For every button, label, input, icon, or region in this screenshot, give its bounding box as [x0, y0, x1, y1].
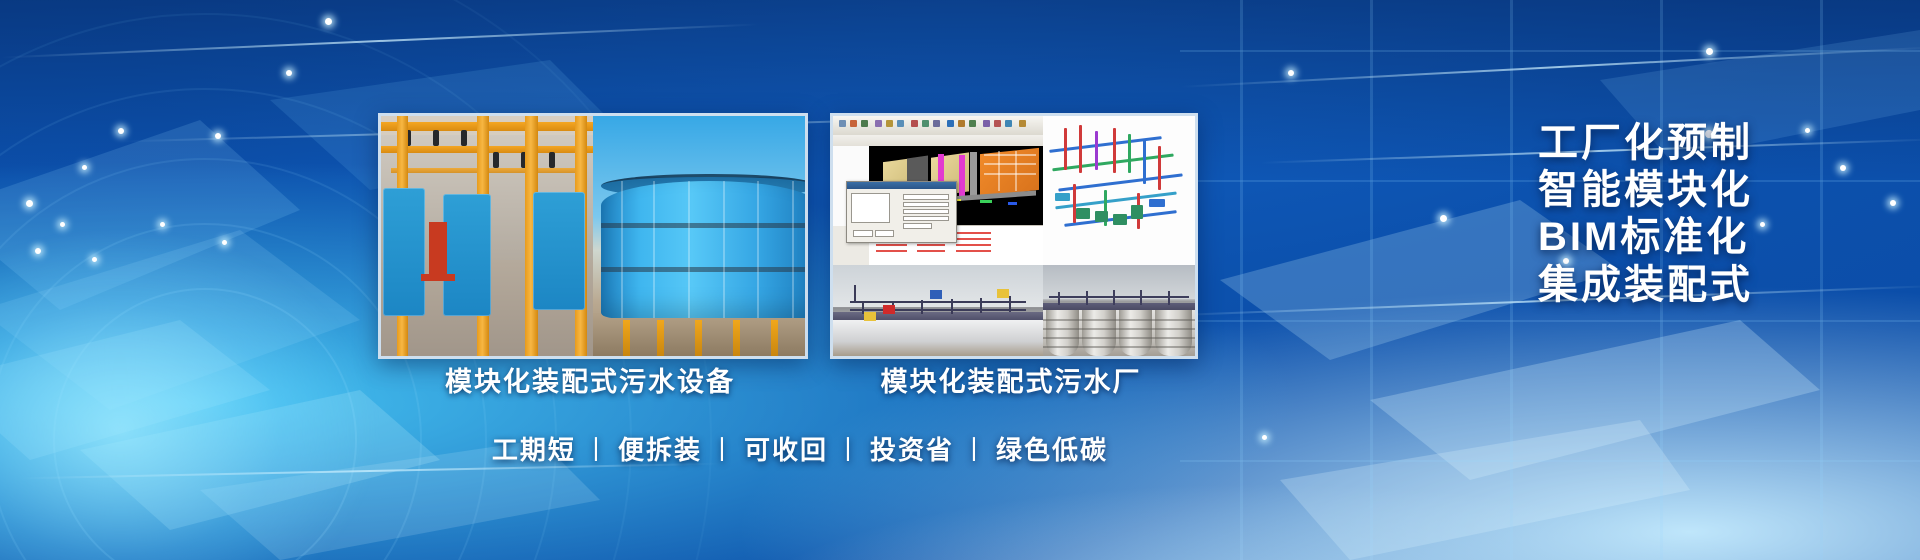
sparkle-dot — [60, 222, 65, 227]
wastewater-plant-photo — [833, 265, 1043, 356]
flag-icon — [997, 289, 1009, 298]
tagline-item: 可收回 — [744, 435, 828, 465]
caption-wastewater-plant: 模块化装配式污水厂 — [830, 360, 1192, 399]
sparkle-dot — [26, 200, 33, 207]
headline-line-1: 工厂化预制 — [1538, 120, 1878, 167]
panel-wastewater-plant[interactable] — [830, 113, 1198, 359]
headline-line-4: 集成装配式 — [1538, 262, 1878, 309]
flag-icon — [930, 290, 942, 299]
sparkle-dot — [1890, 200, 1896, 206]
flag-icon — [883, 305, 895, 314]
factory-modular-panels-photo — [381, 116, 593, 356]
sparkle-dot — [325, 18, 332, 25]
headline-block: 工厂化预制 智能模块化 BIM标准化 集成装配式 — [1538, 120, 1878, 309]
sparkle-dot — [160, 222, 165, 227]
tagline-separator: 丨 — [954, 435, 996, 465]
tagline-item: 便拆装 — [618, 435, 702, 465]
sparkle-dot — [92, 257, 97, 262]
cad-software-screenshot — [833, 116, 1043, 265]
sparkle-dot — [1440, 215, 1447, 222]
headline-line-3: BIM标准化 — [1538, 214, 1878, 261]
tagline-item: 绿色低碳 — [996, 435, 1108, 465]
sparkle-dot — [82, 165, 87, 170]
sparkle-dot — [286, 70, 292, 76]
tagline-item: 投资省 — [870, 435, 954, 465]
tagline: 工期短丨便拆装丨可收回丨投资省丨绿色低碳 — [0, 430, 1600, 467]
tagline-separator: 丨 — [576, 435, 618, 465]
sparkle-dot — [215, 133, 221, 139]
blue-assembled-tank-photo — [593, 116, 805, 356]
sparkle-dot — [1706, 48, 1713, 55]
assembled-tanks-photo — [1043, 265, 1195, 356]
sparkle-dot — [222, 240, 227, 245]
headline-line-2: 智能模块化 — [1538, 167, 1878, 214]
tagline-item: 工期短 — [492, 435, 576, 465]
tagline-separator: 丨 — [702, 435, 744, 465]
caption-wastewater-equipment: 模块化装配式污水设备 — [390, 360, 790, 399]
tagline-separator: 丨 — [828, 435, 870, 465]
sparkle-dot — [1288, 70, 1294, 76]
bim-piping-model — [1043, 116, 1195, 265]
promo-banner: 模块化装配式污水设备 — [0, 0, 1920, 560]
sparkle-dot — [35, 248, 41, 254]
flag-icon — [864, 312, 876, 321]
sparkle-dot — [118, 128, 124, 134]
panel-wastewater-equipment[interactable] — [378, 113, 808, 359]
